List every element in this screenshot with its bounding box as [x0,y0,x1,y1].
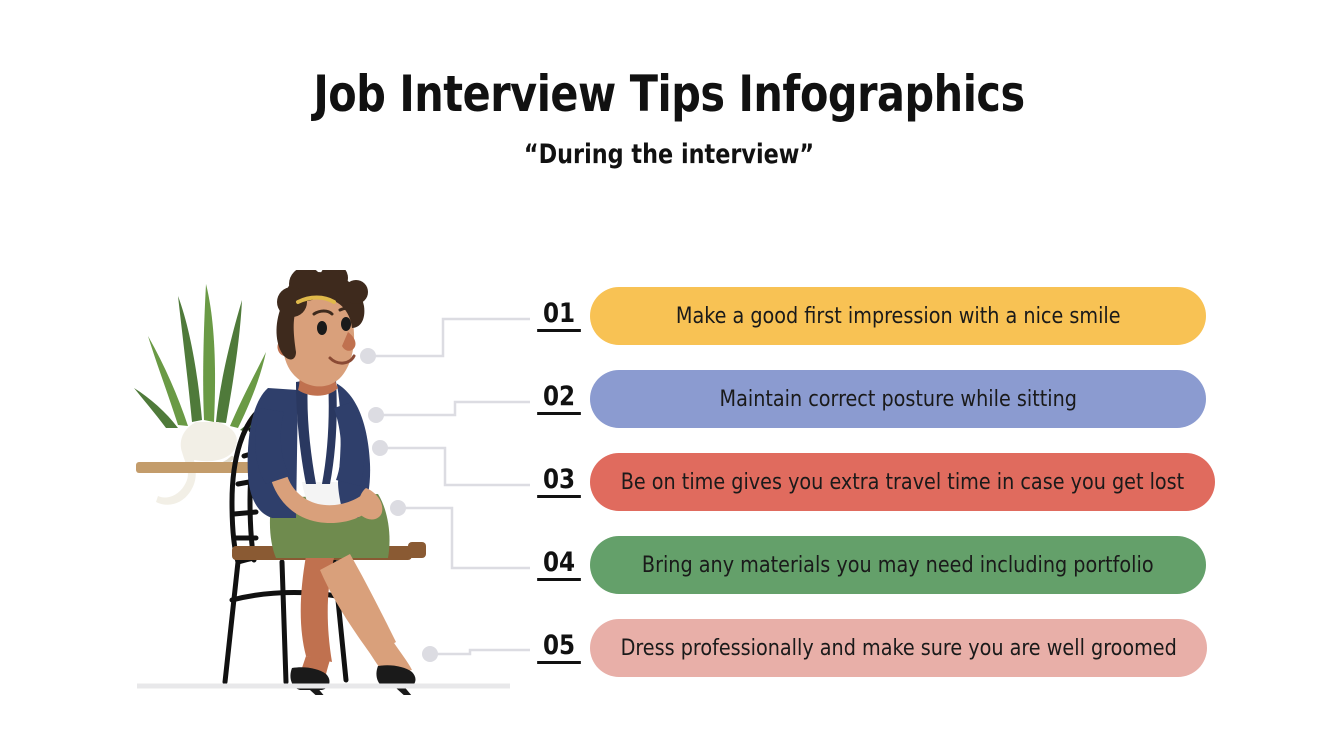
item-pill-03[interactable]: Be on time gives you extra travel time i… [590,453,1215,511]
seated-woman-illustration [120,270,540,695]
infographic-slide: Job Interview Tips Infographics “During … [0,0,1338,753]
item-pill-05[interactable]: Dress professionally and make sure you a… [590,619,1207,677]
list-item[interactable]: 01 Make a good first impression with a n… [536,287,1206,345]
item-text-03: Be on time gives you extra travel time i… [621,470,1184,495]
list-item[interactable]: 05 Dress professionally and make sure yo… [536,619,1206,677]
item-text-01: Make a good first impression with a nice… [676,304,1121,329]
list-item[interactable]: 03 Be on time gives you extra travel tim… [536,453,1206,511]
item-text-05: Dress professionally and make sure you a… [621,636,1177,661]
page-subtitle: “During the interview” [54,139,1285,170]
item-text-02: Maintain correct posture while sitting [719,387,1076,412]
item-number-03: 03 [537,466,581,498]
item-pill-02[interactable]: Maintain correct posture while sitting [590,370,1206,428]
page-title: Job Interview Tips Infographics [54,68,1285,121]
item-pill-01[interactable]: Make a good first impression with a nice… [590,287,1206,345]
item-number-01: 01 [537,300,581,332]
item-number-04: 04 [537,549,581,581]
high-heel-shoes [290,665,415,695]
tips-list: 01 Make a good first impression with a n… [536,287,1206,677]
header: Job Interview Tips Infographics “During … [0,68,1338,170]
woman-figure [248,270,416,695]
item-number-05: 05 [537,632,581,664]
item-pill-04[interactable]: Bring any materials you may need includi… [590,536,1206,594]
item-text-04: Bring any materials you may need includi… [642,553,1154,578]
list-item[interactable]: 02 Maintain correct posture while sittin… [536,370,1206,428]
list-item[interactable]: 04 Bring any materials you may need incl… [536,536,1206,594]
item-number-02: 02 [537,383,581,415]
